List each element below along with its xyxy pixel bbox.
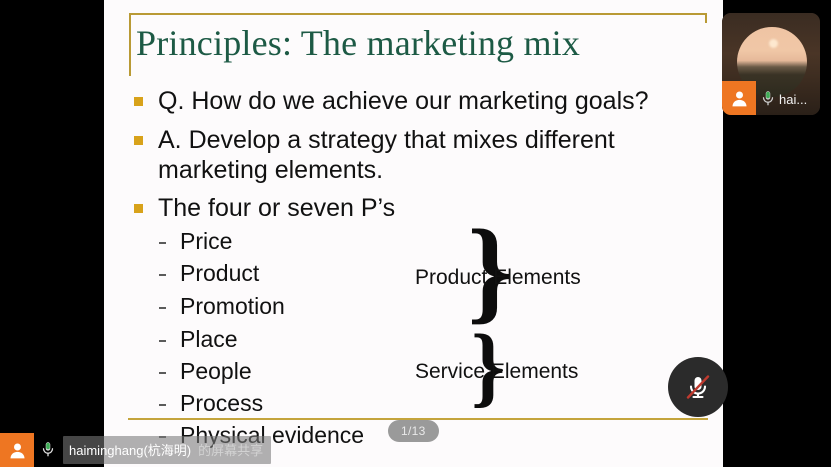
dash-bullet-icon [159,307,166,309]
dash-bullet-icon [159,274,166,276]
service-group-label: Service Elements [415,360,578,384]
sun-icon [769,39,778,48]
mute-toggle-button[interactable] [668,357,728,417]
status-text-container: haiminghang(杭海明) 的屏幕共享 [63,436,271,464]
tile-participant-name: hai... [779,92,807,107]
slide-sub-item-label: Place [180,327,238,352]
title-right-rule [705,13,707,23]
title-top-rule [129,13,707,15]
slide-sub-item: Product [159,261,259,286]
slide-sub-item: Price [159,229,232,254]
title-left-rule [129,13,131,76]
slide-sub-item-label: People [180,359,252,384]
status-participants-badge[interactable] [0,433,34,467]
dash-bullet-icon [159,340,166,342]
participants-icon [7,440,28,461]
slide-sub-item-label: Price [180,229,232,254]
slide-sub-item: Promotion [159,294,285,319]
mic-icon[interactable] [40,441,56,459]
sharing-user-name: haiminghang(杭海明) [69,440,191,459]
slide-sub-item-label: Promotion [180,294,285,319]
slide-sub-item: People [159,359,252,384]
page-indicator: 1/13 [388,420,439,442]
mic-icon [760,90,776,108]
slide-bullet: The four or seven P’s [134,194,395,224]
slide-sub-item-label: Process [180,391,263,416]
slide-bullet-text: Q. How do we achieve our marketing goals… [158,87,649,117]
slide-bullet: A. Develop a strategy that mixes differe… [134,126,678,185]
slide-bullet-text: A. Develop a strategy that mixes differe… [158,126,678,185]
sharing-action-text: 的屏幕共享 [198,440,263,459]
participant-video-tile[interactable]: hai... [722,13,820,115]
slide-sub-item-label: Product [180,261,259,286]
meeting-screen-share-window: Principles: The marketing mix Q. How do … [0,0,831,467]
slide-bullet: Q. How do we achieve our marketing goals… [134,87,649,117]
square-bullet-icon [134,136,143,145]
mic-muted-icon [681,370,715,404]
dash-bullet-icon [159,372,166,374]
slide-sub-item: Place [159,327,238,352]
tile-participant-badge [722,81,756,115]
square-bullet-icon [134,97,143,106]
shared-slide-content: Principles: The marketing mix Q. How do … [104,0,723,467]
product-group-label: Product Elements [415,266,581,290]
slide-bullet-text: The four or seven P’s [158,194,395,224]
slide-title: Principles: The marketing mix [136,22,580,64]
dash-bullet-icon [159,242,166,244]
screen-share-status-bar: haiminghang(杭海明) 的屏幕共享 [34,433,271,467]
dash-bullet-icon [159,404,166,406]
slide-sub-item: Process [159,391,263,416]
person-icon [729,88,750,109]
square-bullet-icon [134,204,143,213]
